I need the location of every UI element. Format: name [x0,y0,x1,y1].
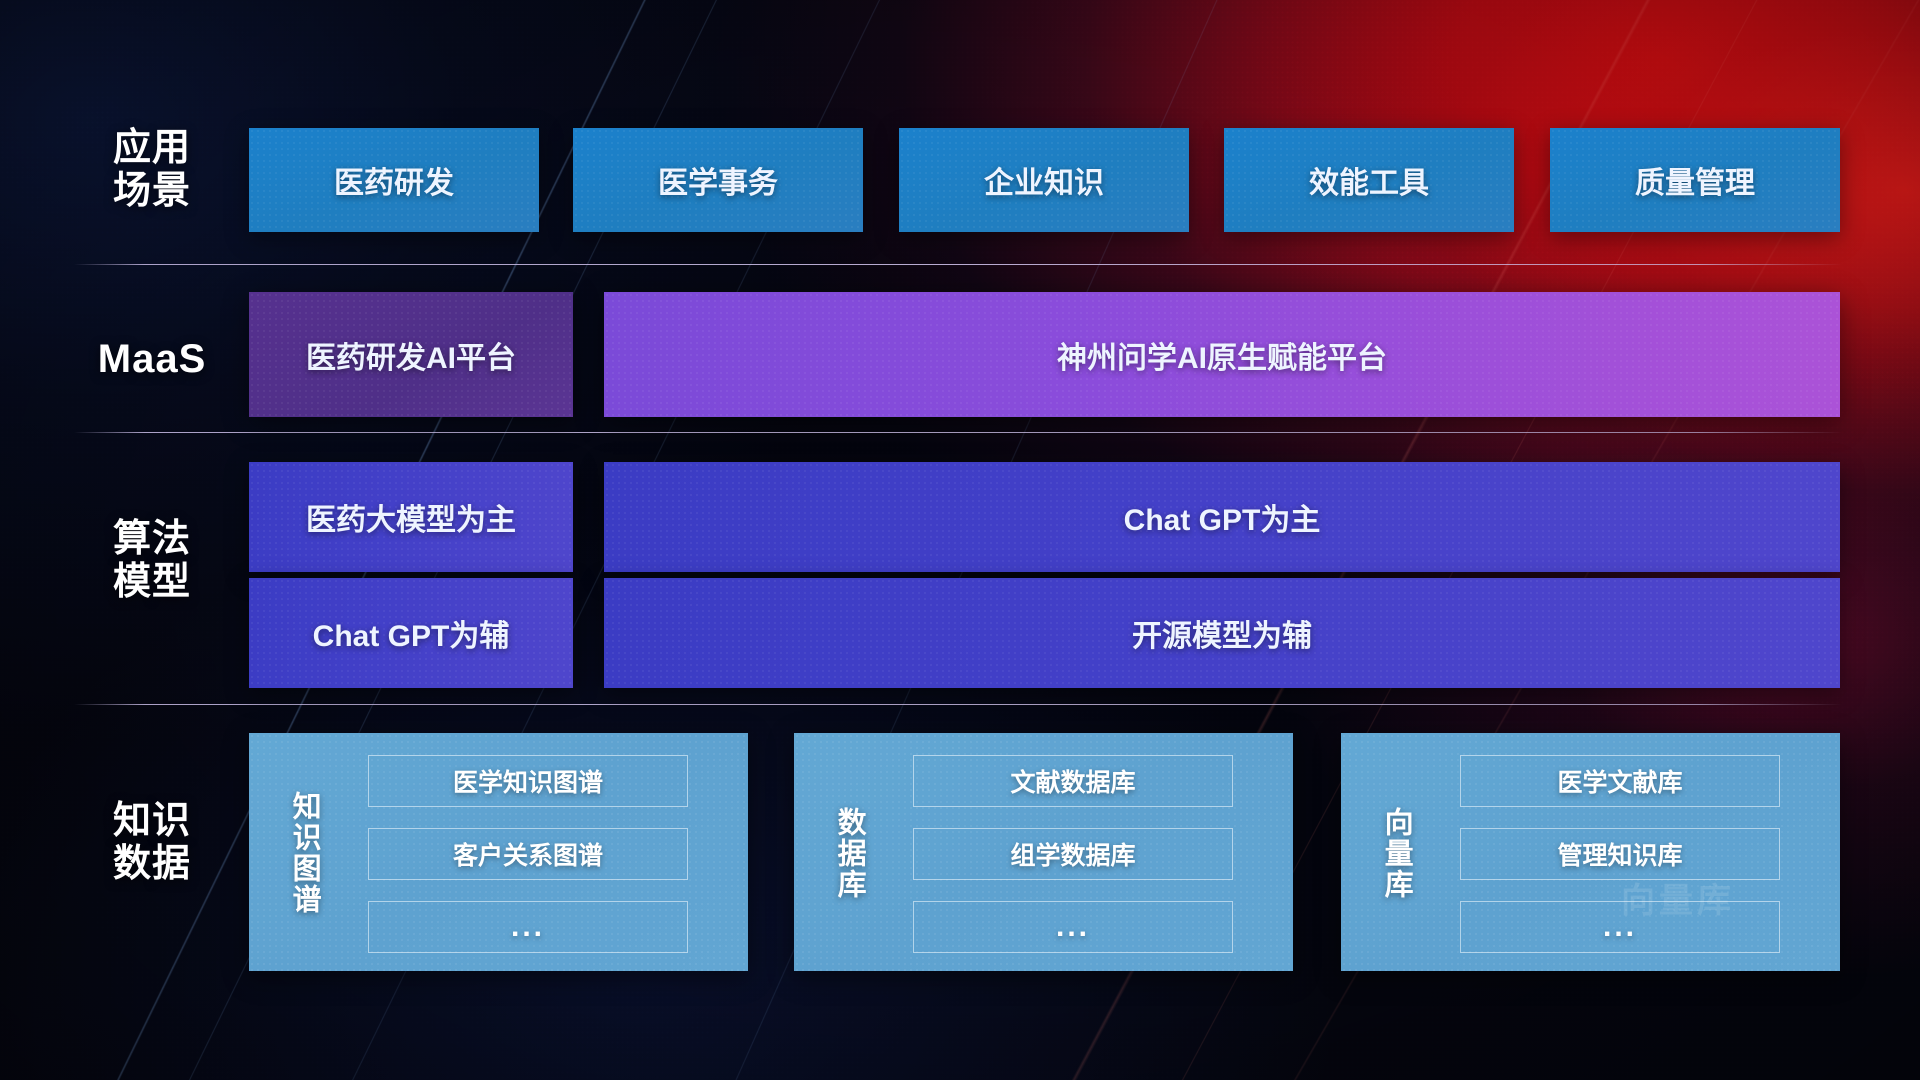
application-box-1-label: 医药研发 [334,158,454,202]
algorithm-box-secondary-opensource-label: 开源模型为辅 [1132,611,1312,655]
knowledge-item-customer-graph-label: 客户关系图谱 [453,836,603,872]
knowledge-item-medical-literature-label: 医学文献库 [1557,763,1682,799]
knowledge-group-graph[interactable]: 知识图谱 医学知识图谱 客户关系图谱 ... [249,733,748,971]
application-box-3[interactable]: 企业知识 [899,128,1189,232]
knowledge-item-medical-graph-label: 医学知识图谱 [453,763,603,799]
maas-box-medical-ai-platform[interactable]: 医药研发AI平台 [249,292,573,417]
knowledge-item-management-knowledge-label: 管理知识库 [1557,836,1682,872]
diagram-canvas: 应用 场景 医药研发 医学事务 企业知识 效能工具 质量管理 MaaS 医药研发… [0,0,1920,1080]
knowledge-item-management-knowledge[interactable]: 管理知识库 [1460,828,1780,880]
algorithm-box-secondary-chatgpt-label: Chat GPT为辅 [313,611,510,655]
algorithm-box-primary-chatgpt-label: Chat GPT为主 [1124,495,1321,539]
divider-algorithm-knowledge [74,704,1842,705]
knowledge-item-literature-db-label: 文献数据库 [1010,763,1135,799]
knowledge-group-database[interactable]: 数据库 文献数据库 组学数据库 ... [794,733,1293,971]
row-label-maas: MaaS [74,337,230,383]
application-box-4-label: 效能工具 [1309,158,1429,202]
knowledge-item-medical-graph[interactable]: 医学知识图谱 [368,755,688,807]
knowledge-group-vector-label: 向量库 [1369,777,1423,929]
maas-box-shenzhou-platform-label: 神州问学AI原生赋能平台 [1057,333,1387,377]
algorithm-box-primary-chatgpt[interactable]: Chat GPT为主 [604,462,1840,572]
maas-box-medical-ai-platform-label: 医药研发AI平台 [306,333,516,377]
divider-maas-algorithm [74,432,1842,433]
knowledge-item-vector-more-label: ... [1603,910,1637,944]
application-box-5-label: 质量管理 [1635,158,1755,202]
knowledge-item-graph-more[interactable]: ... [368,901,688,953]
knowledge-item-medical-literature[interactable]: 医学文献库 [1460,755,1780,807]
row-label-application: 应用 场景 [74,127,230,214]
maas-box-shenzhou-platform[interactable]: 神州问学AI原生赋能平台 [604,292,1840,417]
application-box-5[interactable]: 质量管理 [1550,128,1840,232]
knowledge-item-customer-graph[interactable]: 客户关系图谱 [368,828,688,880]
application-box-3-label: 企业知识 [984,158,1104,202]
row-label-algorithm: 算法 模型 [74,518,230,605]
knowledge-group-graph-label: 知识图谱 [277,755,331,951]
application-box-2-label: 医学事务 [658,158,778,202]
application-box-4[interactable]: 效能工具 [1224,128,1514,232]
algorithm-box-primary-domain-model-label: 医药大模型为主 [306,495,516,539]
application-box-1[interactable]: 医药研发 [249,128,539,232]
knowledge-item-vector-more[interactable]: ... [1460,901,1780,953]
knowledge-item-omics-db-label: 组学数据库 [1010,836,1135,872]
knowledge-item-literature-db[interactable]: 文献数据库 [913,755,1233,807]
application-box-2[interactable]: 医学事务 [573,128,863,232]
knowledge-item-omics-db[interactable]: 组学数据库 [913,828,1233,880]
algorithm-box-primary-domain-model[interactable]: 医药大模型为主 [249,462,573,572]
row-label-knowledge: 知识 数据 [74,800,230,887]
algorithm-box-secondary-chatgpt[interactable]: Chat GPT为辅 [249,578,573,688]
knowledge-group-database-label: 数据库 [822,777,876,929]
knowledge-group-vector[interactable]: 向量库 向量库 医学文献库 管理知识库 ... [1341,733,1840,971]
knowledge-item-database-more-label: ... [1056,910,1090,944]
divider-application-maas [74,264,1842,265]
algorithm-box-secondary-opensource[interactable]: 开源模型为辅 [604,578,1840,688]
knowledge-item-graph-more-label: ... [511,910,545,944]
architecture-diagram: 应用 场景 医药研发 医学事务 企业知识 效能工具 质量管理 MaaS 医药研发… [0,0,1920,1080]
knowledge-item-database-more[interactable]: ... [913,901,1233,953]
